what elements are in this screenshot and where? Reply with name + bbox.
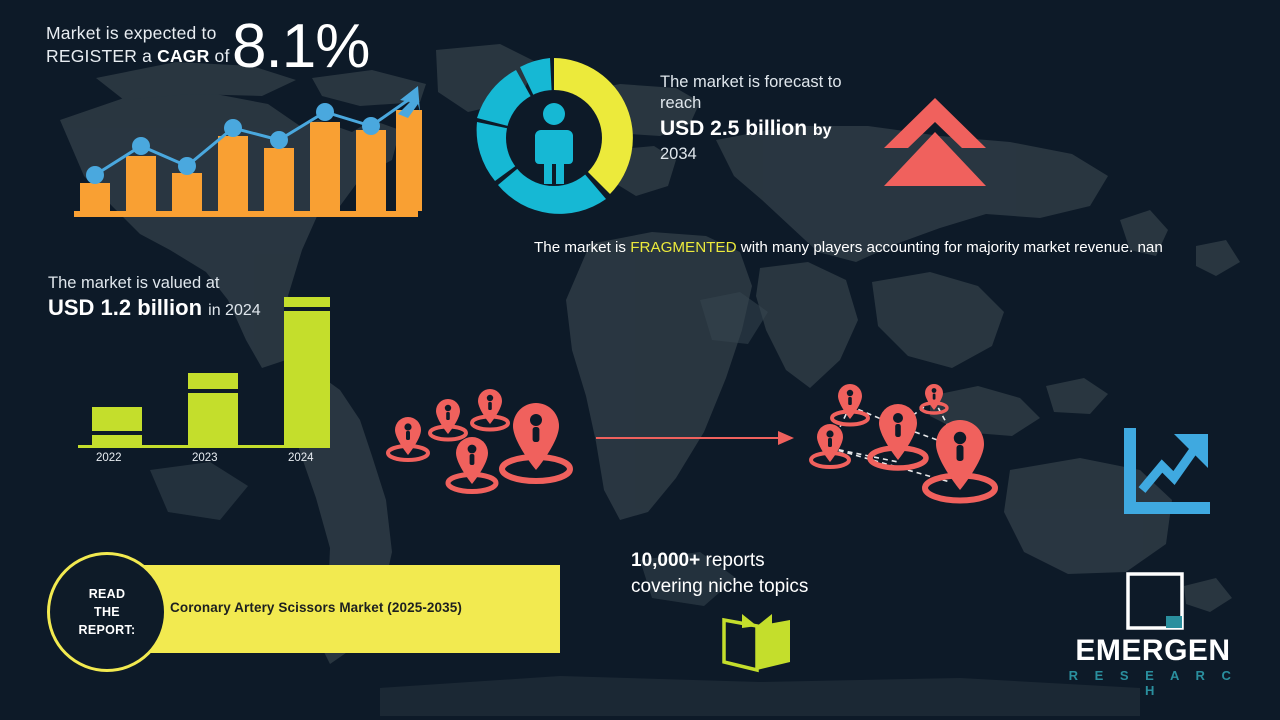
cagr-line2-prefix: REGISTER a <box>46 46 157 66</box>
read-line-3: REPORT: <box>79 623 136 637</box>
valuation-value-row: USD 1.2 billion in 2024 <box>48 294 261 325</box>
cagr-caption: Market is expected to REGISTER a CAGR of <box>46 22 230 68</box>
forecast-value-row: USD 2.5 billion by <box>660 116 890 144</box>
read-line-2: THE <box>94 605 120 619</box>
forecast-year: 2034 <box>660 144 890 165</box>
read-the-report-label: READ THE REPORT: <box>79 585 136 639</box>
read-line-1: READ <box>89 587 126 601</box>
cagr-block: Market is expected to REGISTER a CAGR of… <box>46 22 230 68</box>
reports-count-line-1: 10,000+ reports <box>631 548 808 574</box>
green-bar-label-2024: 2024 <box>288 452 314 464</box>
cagr-label: CAGR <box>157 46 209 66</box>
logo-subtitle: R E S E A R C H <box>1063 668 1243 698</box>
cagr-line-2: REGISTER a CAGR of <box>46 45 230 68</box>
forecast-value: USD 2.5 billion <box>660 117 807 140</box>
location-pins-scattered <box>380 385 620 500</box>
reports-count-suffix: reports <box>700 550 764 571</box>
cagr-line-1: Market is expected to <box>46 22 230 45</box>
fragmented-suffix: with many players accounting for majorit… <box>737 239 1163 256</box>
valuation-block: The market is valued at USD 1.2 billion … <box>48 272 261 325</box>
logo-mark-icon <box>1126 572 1184 630</box>
fragmentation-statement: The market is FRAGMENTED with many playe… <box>534 236 1210 260</box>
valuation-year: in 2024 <box>208 302 261 319</box>
fragmented-highlight: FRAGMENTED <box>630 239 736 256</box>
green-bar-label-2023: 2023 <box>192 452 218 464</box>
forecast-line-1: The market is forecast to <box>660 72 890 93</box>
valuation-caption: The market is valued at <box>48 272 261 294</box>
reports-count-line-2: covering niche topics <box>631 574 808 600</box>
growth-trend-chart <box>62 78 422 223</box>
forecast-line-2: reach <box>660 93 890 114</box>
forecast-block: The market is forecast to reach USD 2.5 … <box>660 72 890 165</box>
market-share-donut <box>468 52 640 224</box>
infographic-canvas: Market is expected to REGISTER a CAGR of… <box>0 0 1280 720</box>
up-arrows-icon <box>882 96 988 188</box>
emergen-research-logo: EMERGEN R E S E A R C H <box>1063 572 1243 690</box>
cagr-value: 8.1% <box>232 16 369 78</box>
location-pins-network <box>800 382 1020 507</box>
valuation-value: USD 1.2 billion <box>48 295 202 320</box>
report-title[interactable]: Coronary Artery Scissors Market (2025-20… <box>170 600 462 615</box>
cagr-line2-suffix: of <box>209 46 229 66</box>
logo-name: EMERGEN <box>1063 634 1243 668</box>
reports-count-value: 10,000+ <box>631 550 700 571</box>
forecast-by-label: by <box>813 122 832 139</box>
read-the-report-button[interactable]: READ THE REPORT: <box>47 552 167 672</box>
flow-arrow-icon <box>596 428 796 448</box>
growth-chart-icon <box>1116 424 1214 522</box>
fragmented-prefix: The market is <box>534 239 630 256</box>
open-book-icon <box>718 612 796 674</box>
reports-count-block: 10,000+ reports covering niche topics <box>631 548 808 600</box>
green-bar-label-2022: 2022 <box>96 452 122 464</box>
